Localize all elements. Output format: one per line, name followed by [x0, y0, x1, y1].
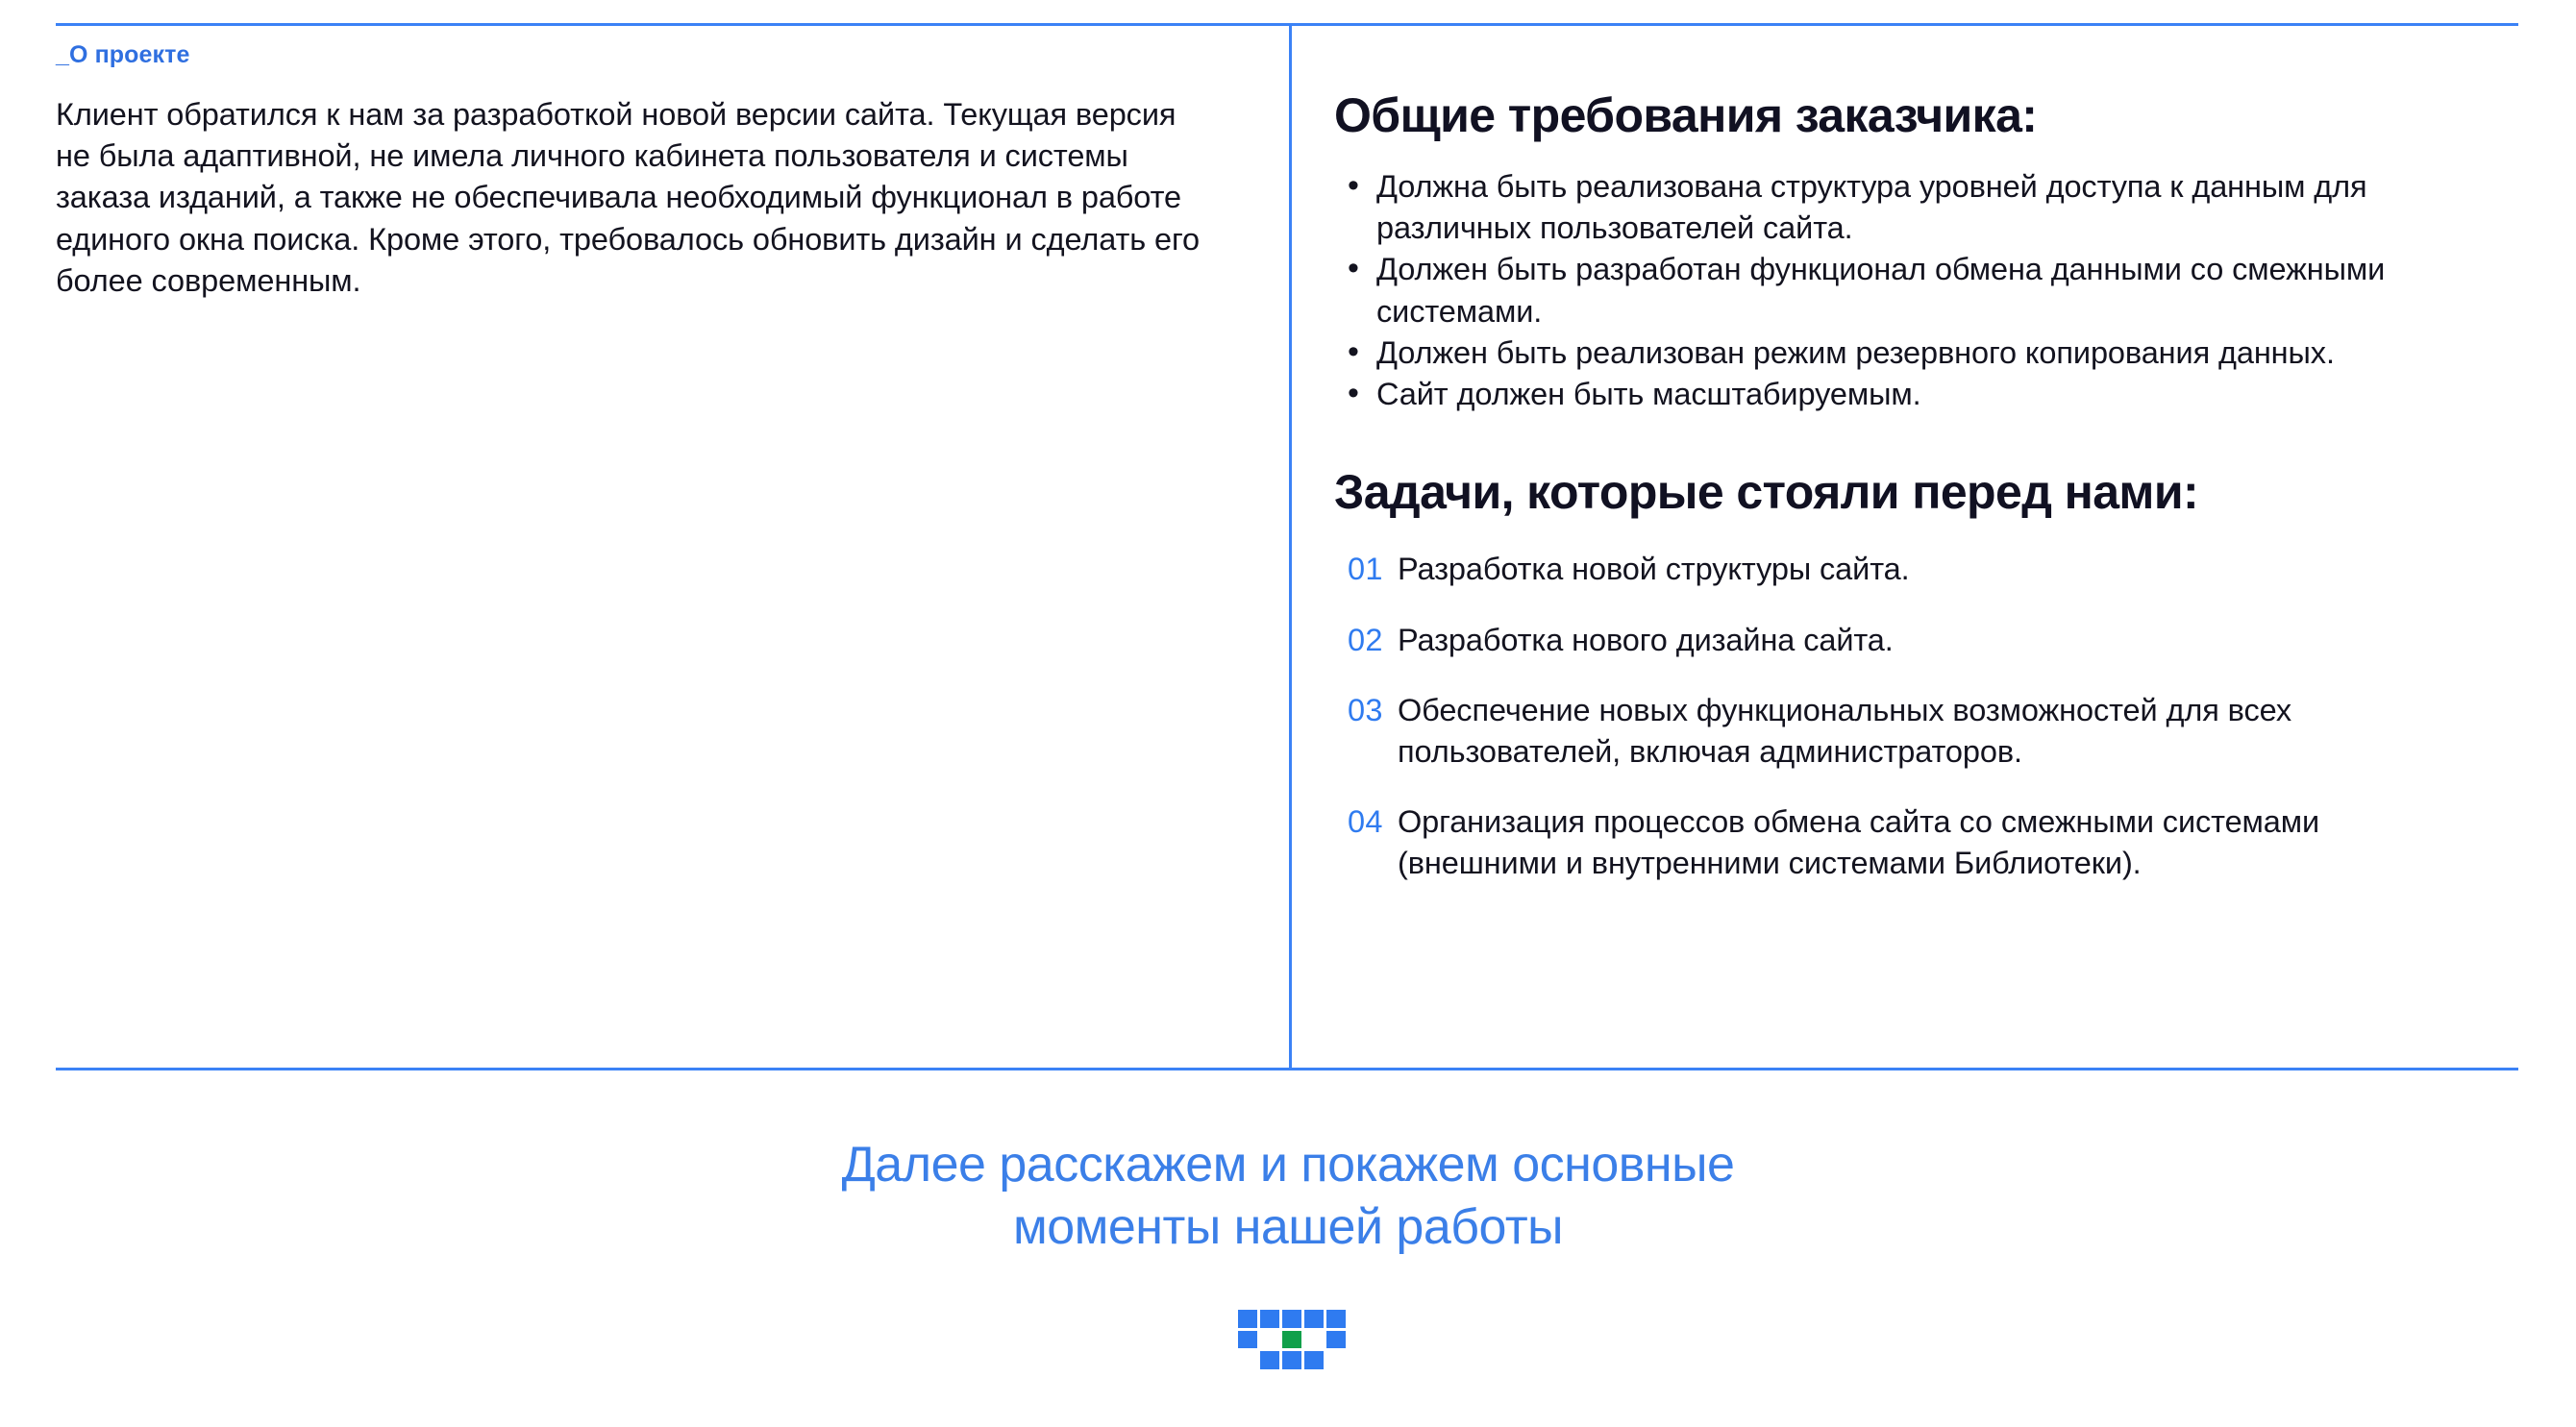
pixel-grid-logo-icon — [1238, 1310, 1346, 1369]
divider-vertical — [1289, 23, 1292, 1070]
logo-cell-blue — [1260, 1310, 1279, 1328]
logo-cell-green — [1282, 1331, 1301, 1349]
task-number: 03 — [1334, 690, 1398, 731]
logo-cell-blue — [1282, 1310, 1301, 1328]
list-item: 04 Организация процессов обмена сайта со… — [1334, 801, 2526, 884]
right-column: Общие требования заказчика: Должна быть … — [1334, 86, 2526, 885]
logo-cell-blue — [1238, 1310, 1257, 1328]
logo-cell-empty — [1326, 1351, 1346, 1369]
list-item: Должен быть разработан функционал обмена… — [1334, 249, 2526, 332]
task-number: 02 — [1334, 620, 1398, 661]
logo-cell-blue — [1238, 1331, 1257, 1349]
logo-cell-blue — [1326, 1331, 1346, 1349]
tasks-list: 01 Разработка новой структуры сайта. 02 … — [1334, 549, 2526, 884]
divider-top-horizontal — [56, 23, 2518, 26]
task-number: 04 — [1334, 801, 1398, 843]
logo-cell-empty — [1238, 1351, 1257, 1369]
task-text: Обеспечение новых функциональных возможн… — [1398, 690, 2465, 773]
task-text: Разработка нового дизайна сайта. — [1398, 620, 2465, 661]
section-eyebrow-about: _О проекте — [56, 40, 1238, 69]
task-number: 01 — [1334, 549, 1398, 590]
divider-bottom-horizontal — [56, 1068, 2518, 1070]
left-column: _О проекте Клиент обратился к нам за раз… — [56, 40, 1238, 302]
requirements-heading: Общие требования заказчика: — [1334, 86, 2526, 145]
intro-paragraph: Клиент обратился к нам за разработкой но… — [56, 94, 1209, 302]
list-item: 01 Разработка новой структуры сайта. — [1334, 549, 2526, 590]
list-item: Сайт должен быть масштабируемым. — [1334, 374, 2526, 415]
list-item: Должна быть реализована структура уровне… — [1334, 166, 2526, 249]
list-item: 02 Разработка нового дизайна сайта. — [1334, 620, 2526, 661]
footer-tagline-line-1: Далее расскажем и покажем основные — [842, 1137, 1735, 1193]
footer-tagline: Далее расскажем и покажем основные момен… — [0, 1134, 2576, 1259]
logo-cell-empty — [1304, 1331, 1324, 1349]
logo-cell-blue — [1260, 1351, 1279, 1369]
tasks-heading: Задачи, которые стояли перед нами: — [1334, 463, 2526, 522]
requirements-list: Должна быть реализована структура уровне… — [1334, 166, 2526, 415]
list-item: 03 Обеспечение новых функциональных возм… — [1334, 690, 2526, 773]
footer: Далее расскажем и покажем основные момен… — [0, 1134, 2576, 1259]
logo-cell-blue — [1326, 1310, 1346, 1328]
logo-cell-blue — [1282, 1351, 1301, 1369]
list-item: Должен быть реализован режим резервного … — [1334, 332, 2526, 374]
slide-about-project: _О проекте Клиент обратился к нам за раз… — [0, 0, 2576, 1427]
task-text: Разработка новой структуры сайта. — [1398, 549, 2465, 590]
logo-cell-blue — [1304, 1351, 1324, 1369]
task-text: Организация процессов обмена сайта со см… — [1398, 801, 2465, 884]
logo-cell-empty — [1260, 1331, 1279, 1349]
logo-cell-blue — [1304, 1310, 1324, 1328]
footer-tagline-line-2: моменты нашей работы — [0, 1196, 2576, 1259]
